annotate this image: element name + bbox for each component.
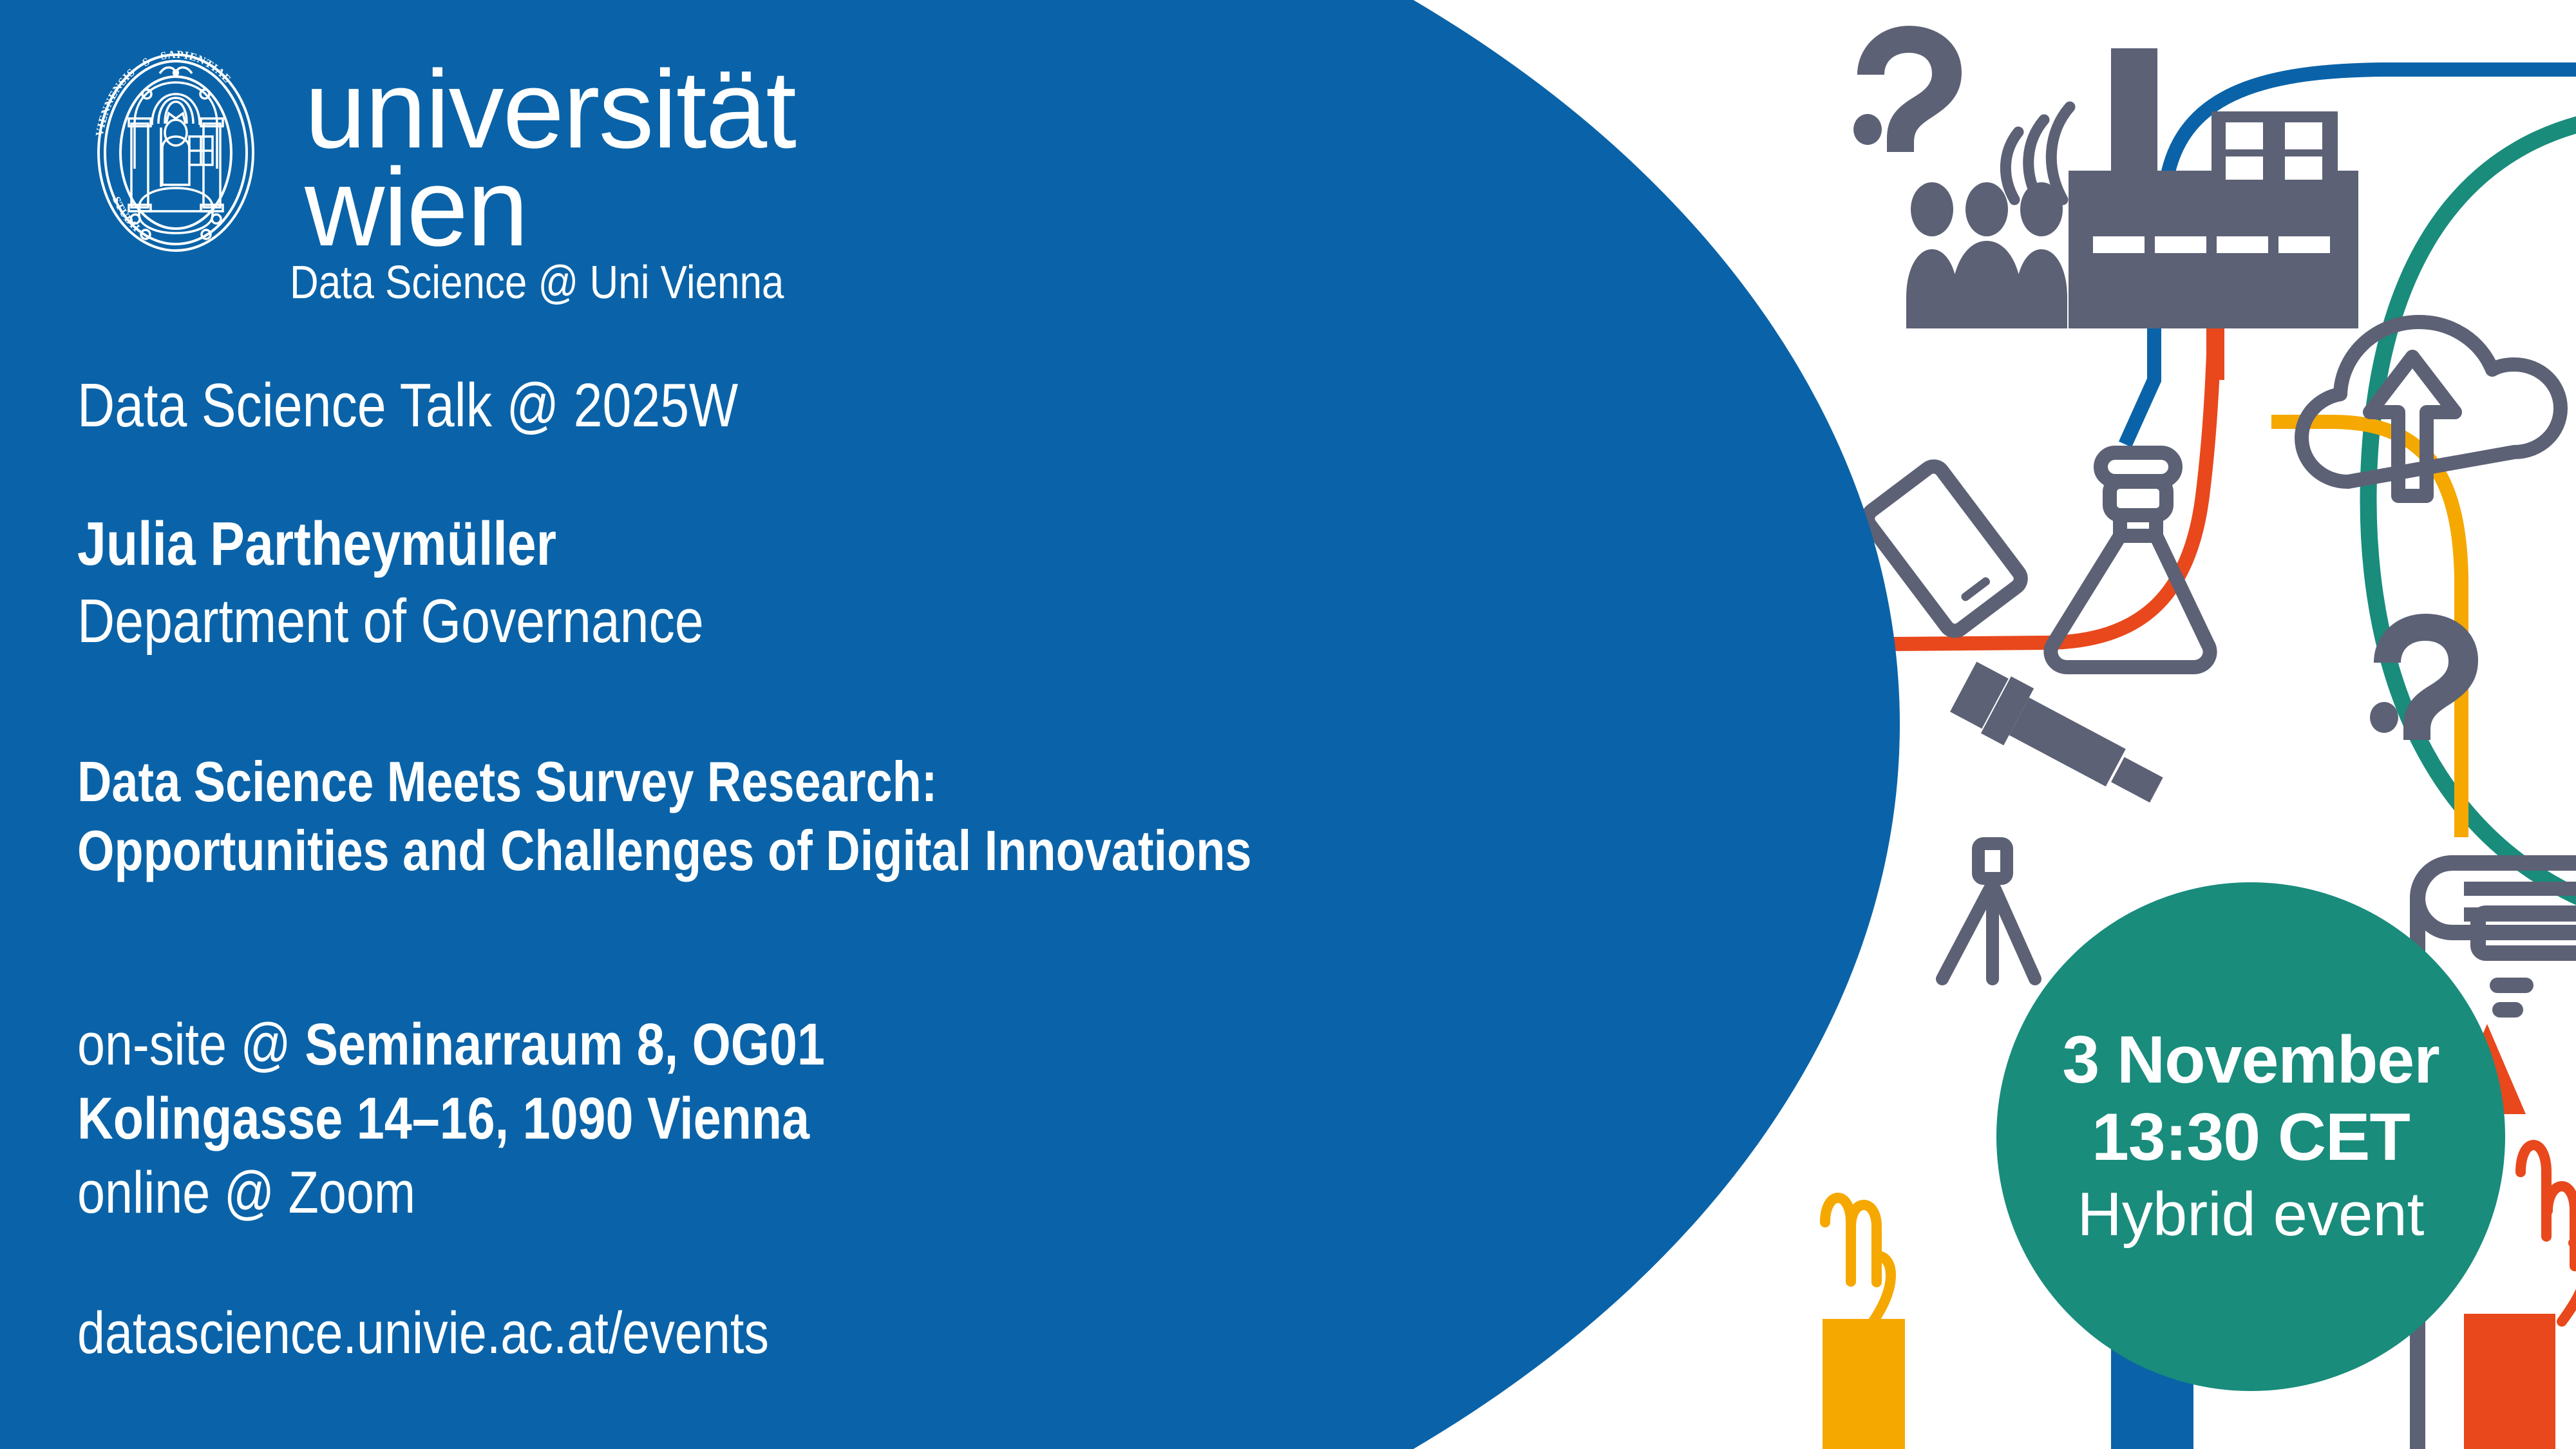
cloud-upload-icon [2302, 322, 2561, 496]
talk-title-line-1: Data Science Meets Survey Research: [77, 747, 1251, 816]
venue-online-line: online @ Zoom [77, 1156, 825, 1230]
people-group-icon [1906, 182, 2067, 328]
venue-room: Seminarraum 8, OG01 [305, 1012, 825, 1077]
speaker-name: Julia Partheymüller [77, 509, 556, 580]
wordmark-line-1: universität [305, 66, 795, 155]
venue-prefix: on-site @ [77, 1012, 305, 1077]
venue-block: on-site @ Seminarraum 8, OG01 Kolingasse… [77, 1008, 825, 1230]
factory-icon [2069, 48, 2358, 328]
event-poster: VIENNENSIS · S · SAPIENTIAE · STUDII uni… [0, 0, 2576, 1449]
venue-onsite-line: on-site @ Seminarraum 8, OG01 [77, 1008, 825, 1082]
poster-content: VIENNENSIS · S · SAPIENTIAE · STUDII uni… [0, 0, 1868, 1449]
question-mark-icon [1853, 26, 1962, 152]
event-website-link[interactable]: datascience.univie.ac.at/events [77, 1300, 769, 1367]
university-seal-icon: VIENNENSIS · S · SAPIENTIAE · STUDII [70, 46, 282, 259]
venue-address: Kolingasse 14–16, 1090 Vienna [77, 1086, 810, 1151]
badge-format: Hybrid event [2078, 1177, 2425, 1252]
teal-connector-curve [2369, 116, 2576, 902]
date-badge: 3 November 13:30 CET Hybrid event [1996, 882, 2505, 1391]
talk-title: Data Science Meets Survey Research: Oppo… [77, 747, 1251, 885]
university-wordmark: universität wien [305, 66, 795, 252]
badge-time: 13:30 CET [2092, 1099, 2410, 1177]
talk-series-label: Data Science Talk @ 2025W [77, 370, 738, 441]
wordmark-line-2: wien [305, 164, 795, 252]
speaker-affiliation: Department of Governance [77, 586, 704, 657]
badge-date: 3 November [2062, 1021, 2439, 1099]
unit-subtitle: Data Science @ Uni Vienna [290, 256, 784, 309]
talk-title-line-2: Opportunities and Challenges of Digital … [77, 816, 1251, 885]
university-logo: VIENNENSIS · S · SAPIENTIAE · STUDII uni… [70, 46, 795, 259]
venue-address-line: Kolingasse 14–16, 1090 Vienna [77, 1082, 825, 1156]
